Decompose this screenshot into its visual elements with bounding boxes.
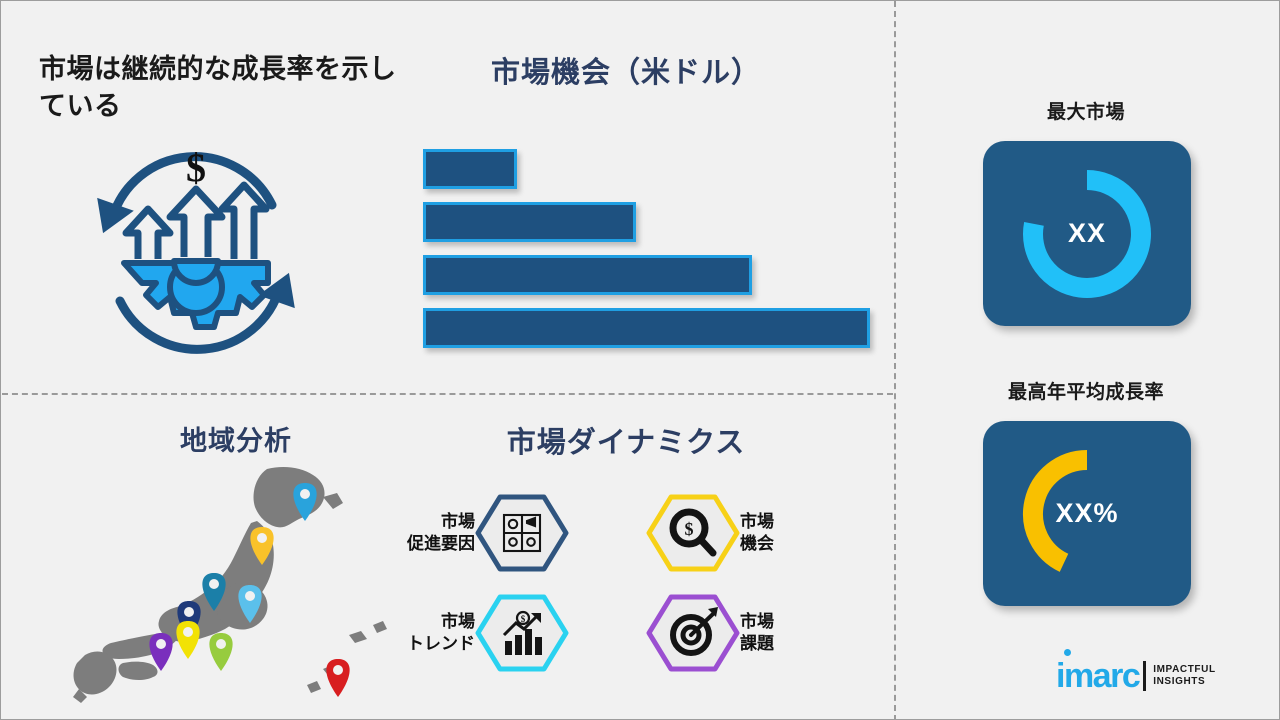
japan-map [61,463,406,703]
hexagon-trends: $ [475,593,569,673]
region-title: 地域分析 [106,419,366,458]
dynamics-title: 市場ダイナミクス [431,419,821,461]
donut-label-largest-market: 最大市場 [946,97,1226,124]
logo-dot-icon [1064,649,1071,656]
donut-card-largest-market: XX [983,141,1191,326]
dynamics-item-opportunities[interactable]: $ 市場 機会 [646,496,774,570]
svg-text:$: $ [685,519,694,539]
vertical-divider [894,1,896,720]
bar-1 [423,149,517,189]
bar-2 [423,202,636,242]
donut-card-highest-cagr: XX% [983,421,1191,606]
dynamics-item-drivers[interactable]: 市場 促進要因 [407,496,569,570]
hexagon-challenges [646,593,740,673]
bar-4 [423,308,870,348]
dynamics-label-opportunities: 市場 機会 [740,511,774,555]
donut-chart-largest-market [1011,158,1163,310]
logo-divider [1143,661,1146,691]
pin-kansai[interactable] [209,633,232,671]
horizontal-divider [2,393,893,395]
logo-word-text: imarc [1056,657,1139,695]
opportunity-bar-chart [423,149,883,349]
opportunity-title: 市場機会（米ドル） [416,49,836,91]
pin-okinawa[interactable] [326,659,349,697]
dynamics-label-trends: 市場 トレンド [407,611,475,655]
dynamics-item-trends[interactable]: 市場 トレンド $ [407,596,569,670]
svg-text:$: $ [521,614,526,624]
hexagon-drivers [475,493,569,573]
dynamics-label-challenges: 市場 課題 [740,611,774,655]
pin-chugoku[interactable] [176,621,199,659]
donut-value-arc [1033,460,1087,563]
donut-chart-highest-cagr [1011,438,1163,590]
dynamics-item-challenges[interactable]: 市場 課題 [646,596,774,670]
donut-label-highest-cagr: 最高年平均成長率 [946,377,1226,404]
bar-3 [423,255,752,295]
imarc-logo: imarc IMPACTFUL INSIGHTS [1056,659,1216,693]
slide-canvas: 市場は継続的な成長率を示している $ [0,0,1280,720]
dynamics-label-drivers: 市場 促進要因 [407,511,475,555]
hexagon-opportunities: $ [646,493,740,573]
left-heading: 市場は継続的な成長率を示している [39,51,399,126]
logo-tagline: IMPACTFUL INSIGHTS [1153,664,1215,689]
growth-gear-arrows-icon: $ [76,141,316,366]
svg-text:$: $ [186,145,206,190]
donut-value-arc [1033,180,1141,288]
logo-wordmark: imarc [1056,659,1139,693]
